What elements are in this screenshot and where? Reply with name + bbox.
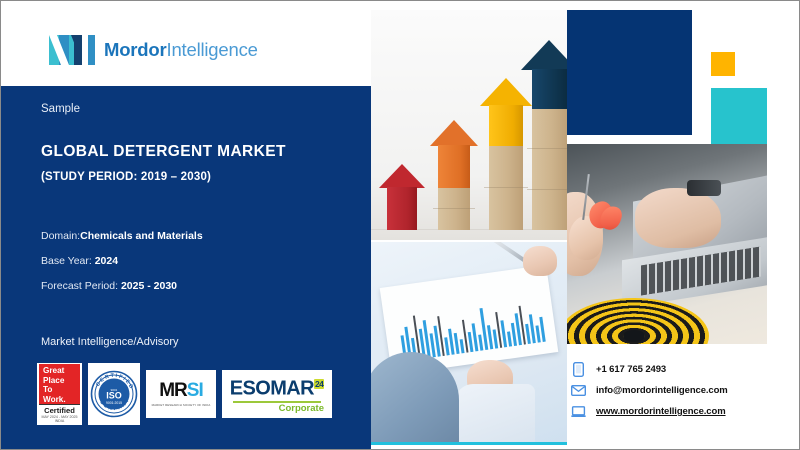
paper-bar-chart <box>392 284 549 362</box>
study-period-subtitle: (STUDY PERIOD: 2019 – 2030) <box>41 171 211 183</box>
photo-chart-review <box>371 242 567 445</box>
dartboard-bullseye <box>623 330 645 342</box>
phone-icon <box>571 362 586 377</box>
advisory-label: Market Intelligence/Advisory <box>41 336 179 348</box>
meta-list: Domain:Chemicals and Materials Base Year… <box>41 224 203 299</box>
esomar-wordmark: ESOMAR24 <box>230 374 324 400</box>
gptw-line1: Great <box>43 366 64 375</box>
geo-square-navy <box>567 10 692 135</box>
info-panel: Sample GLOBAL DETERGENT MARKET (STUDY PE… <box>1 86 371 450</box>
geo-square-amber <box>711 52 735 76</box>
gptw-line3: To <box>43 385 52 394</box>
report-cover-page: MordorIntelligence Sample GLOBAL DETERGE… <box>0 0 800 450</box>
gptw-certified-label: Certified <box>39 404 80 415</box>
mrsi-text-dark: MR <box>159 380 187 401</box>
laptop-icon <box>571 404 586 419</box>
gptw-fine-print-2: INDIA <box>39 419 80 423</box>
photo-dart-target <box>567 144 767 344</box>
meta-value-forecast: 2025 - 2030 <box>121 280 177 292</box>
certification-badges: Great Place To Work. Certified MAY 2024 … <box>37 363 332 425</box>
svg-text:ISO: ISO <box>106 391 122 401</box>
block-house-4 <box>527 40 567 230</box>
contact-website-text[interactable]: www.mordorintelligence.com <box>596 406 726 417</box>
gptw-certified-block: Certified MAY 2024 - MAY 2025 INDIA <box>39 404 80 424</box>
meta-value-base-year: 2024 <box>95 255 118 267</box>
photo-wooden-blocks <box>371 10 567 240</box>
meta-key-domain: Domain: <box>41 230 80 242</box>
mordor-m-logo-icon <box>49 35 95 65</box>
esomar-main-text: ESOMAR <box>230 378 314 400</box>
email-icon <box>571 383 586 398</box>
contact-block: +1 617 765 2493 info@mordorintelligence.… <box>571 359 728 422</box>
sample-label: Sample <box>41 103 80 115</box>
wristwatch <box>687 180 721 196</box>
page-title: GLOBAL DETERGENT MARKET <box>41 143 286 161</box>
contact-email-text: info@mordorintelligence.com <box>596 385 728 396</box>
brand-light: Intelligence <box>167 39 258 60</box>
esomar-corporate-label: Corporate <box>279 403 324 414</box>
block-house-3 <box>484 78 528 230</box>
badge-iso-certified: CERTIFIED COMPANY 9001 ISO 9001:2015 <box>88 363 140 425</box>
badge-mrsi: MRSI MARKET RESEARCH SOCIETY OF INDIA <box>146 370 216 418</box>
contact-row-email[interactable]: info@mordorintelligence.com <box>571 380 728 401</box>
gptw-line4: Work. <box>43 395 66 404</box>
mrsi-subtitle: MARKET RESEARCH SOCIETY OF INDIA <box>152 403 211 407</box>
meta-row-base-year: Base Year: 2024 <box>41 249 203 274</box>
contact-row-phone[interactable]: +1 617 765 2493 <box>571 359 728 380</box>
dart <box>589 202 627 242</box>
hand-on-laptop <box>635 188 721 248</box>
meta-key-forecast: Forecast Period: <box>41 280 118 292</box>
brand-logo[interactable]: MordorIntelligence <box>49 35 258 65</box>
person-shoulder <box>371 352 459 445</box>
header: MordorIntelligence <box>1 1 371 86</box>
hand-top <box>523 246 557 276</box>
iso-seal-icon: CERTIFIED COMPANY 9001 ISO 9001:2015 <box>90 370 138 418</box>
block-house-2 <box>433 120 475 230</box>
mrsi-wordmark: MRSI <box>159 381 203 401</box>
gptw-line2: Place <box>43 376 64 385</box>
badge-great-place-to-work: Great Place To Work. Certified MAY 2024 … <box>37 363 82 425</box>
meta-row-forecast: Forecast Period: 2025 - 2030 <box>41 274 203 299</box>
badge-esomar: ESOMAR24 Corporate <box>222 370 332 418</box>
svg-text:9001:2015: 9001:2015 <box>106 401 122 405</box>
brand-name: MordorIntelligence <box>104 39 258 61</box>
esomar-sup-24: 24 <box>314 379 324 389</box>
gptw-red-block: Great Place To Work. <box>39 364 80 404</box>
contact-phone-text: +1 617 765 2493 <box>596 364 666 375</box>
mrsi-text-accent: SI <box>187 380 203 401</box>
meta-value-domain: Chemicals and Materials <box>80 230 203 242</box>
shirt-sleeve <box>455 384 535 442</box>
geo-square-teal <box>711 88 767 144</box>
brand-bold: Mordor <box>104 39 167 60</box>
contact-row-website[interactable]: www.mordorintelligence.com <box>571 401 728 422</box>
meta-row-domain: Domain:Chemicals and Materials <box>41 224 203 249</box>
block-house-1 <box>383 164 421 230</box>
meta-key-base-year: Base Year: <box>41 255 92 267</box>
